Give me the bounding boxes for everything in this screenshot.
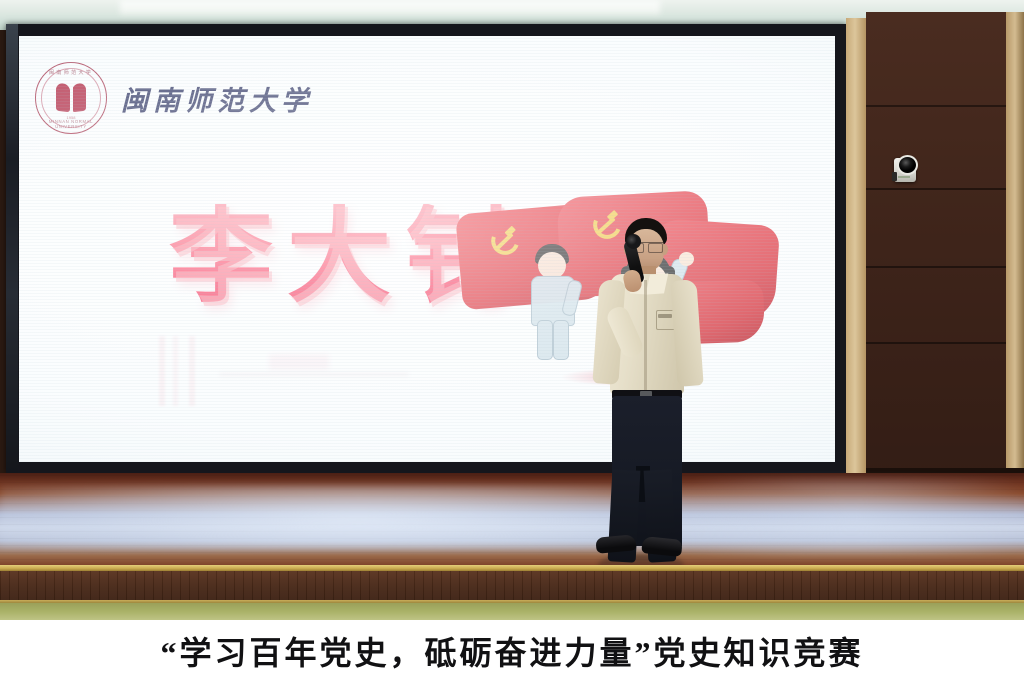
led-screen: 闽南师范大学 1958 MINNAN NORMAL UNIVERSITY 闽南师… <box>19 36 835 462</box>
stage-photo: 闽南师范大学 1958 MINNAN NORMAL UNIVERSITY 闽南师… <box>0 0 1024 682</box>
wall-trim-right <box>1006 12 1024 480</box>
shirt-pocket-label <box>658 314 672 318</box>
shirt-placket <box>644 280 647 390</box>
stage-apron <box>0 571 1024 603</box>
camera-indicator <box>898 176 910 178</box>
wall-seam <box>866 342 1006 344</box>
slide-branding: 闽南师范大学 1958 MINNAN NORMAL UNIVERSITY 闽南师… <box>35 62 313 134</box>
watermark-line <box>219 372 409 377</box>
camera-lens <box>897 155 918 175</box>
right-wall <box>866 12 1006 480</box>
figure-leg <box>553 320 569 360</box>
camera-mount <box>892 172 897 181</box>
ceiling-highlight <box>120 0 660 14</box>
university-emblem-icon: 闽南师范大学 1958 MINNAN NORMAL UNIVERSITY <box>35 62 107 134</box>
emblem-cn-arc-text: 闽南师范大学 <box>36 69 106 76</box>
wall-trim-left <box>846 18 866 478</box>
security-camera-icon <box>892 152 916 182</box>
wall-seam <box>866 105 1006 107</box>
slide-watermark <box>159 336 429 406</box>
hammer-and-sickle-icon <box>488 223 521 256</box>
emblem-book-spine <box>70 81 73 111</box>
presenter <box>588 218 706 558</box>
figure-leg <box>537 320 553 360</box>
cartoon-figure <box>517 244 587 364</box>
wall-seam <box>866 266 1006 268</box>
university-name: 闽南师范大学 <box>121 79 313 118</box>
apron-wood-grain <box>0 571 1024 603</box>
emblem-book-icon <box>56 83 86 111</box>
figure-head <box>538 252 566 279</box>
led-screen-frame: 闽南师范大学 1958 MINNAN NORMAL UNIVERSITY 闽南师… <box>6 24 846 474</box>
emblem-en-arc-text: MINNAN NORMAL UNIVERSITY <box>35 119 106 129</box>
presentation-slide: 闽南师范大学 1958 MINNAN NORMAL UNIVERSITY 闽南师… <box>19 36 835 462</box>
watermark-blob <box>269 354 329 370</box>
caption-text: “学习百年党史，砥砺奋进力量”党史知识竞赛 <box>0 620 1024 682</box>
wall-seam <box>866 188 1006 190</box>
